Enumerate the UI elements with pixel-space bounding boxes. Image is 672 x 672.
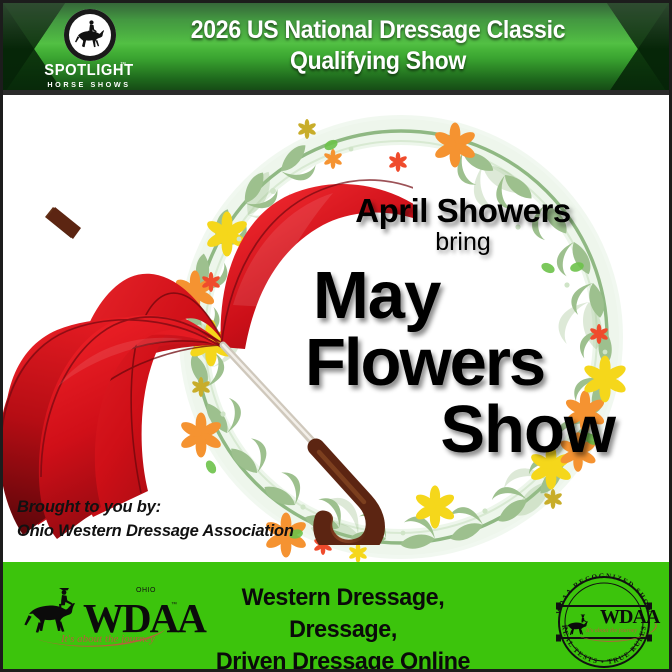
headline-line-show: Show	[303, 396, 615, 463]
headline-line-may: May	[313, 262, 623, 329]
headline-line-april-showers: April Showers	[303, 193, 623, 229]
spotlight-horse-shows-logo: SPOTLIGHT ™ HORSE SHOWS	[41, 9, 137, 93]
footer-title-line1: Western Dressage, Dressage,	[242, 584, 445, 643]
wdaa-badge-tagline: It's about the journey	[586, 628, 637, 634]
header-banner: SPOTLIGHT ™ HORSE SHOWS 2026 US National…	[3, 3, 669, 95]
headline-line-bring: bring	[303, 229, 623, 256]
logo-subtitle: HORSE SHOWS	[41, 80, 137, 89]
footer-title-line2: Driven Dressage Online Show	[186, 646, 500, 669]
logo-trademark: ™	[120, 62, 126, 68]
header-right-chevron	[607, 3, 669, 95]
footer-banner: OHIO WDAA ™ It's about the journey Weste…	[3, 562, 669, 669]
wdaa-tagline: It's about the journey	[61, 633, 155, 645]
credit-block: Brought to you by: Ohio Western Dressage…	[17, 495, 294, 543]
credit-line1: Brought to you by:	[17, 495, 294, 519]
wdaa-trademark: ™	[171, 602, 177, 608]
footer-title: Western Dressage, Dressage, Driven Dress…	[186, 582, 500, 669]
page-title: 2026 US National Dressage Classic Qualif…	[162, 15, 594, 77]
wdaa-badge-wordmark: WDAA	[600, 606, 659, 629]
artwork-canvas: April Showers bring May Flowers Show Bro…	[3, 95, 669, 562]
show-poster: SPOTLIGHT ™ HORSE SHOWS 2026 US National…	[0, 0, 672, 672]
wdaa-ohio-logo: OHIO WDAA ™ It's about the journey	[23, 574, 183, 658]
wdaa-region-label: OHIO	[136, 587, 156, 594]
wdaa-recognized-show-badge: WDAA RECOGNIZED SHOW REAL TESTS • TRUE R…	[548, 568, 660, 664]
page-title-line1: 2026 US National Dressage Classic	[191, 16, 565, 44]
headline-block: April Showers bring May Flowers Show	[303, 193, 623, 463]
dressage-horse-and-rider-icon	[64, 9, 116, 61]
credit-line2: Ohio Western Dressage Association	[17, 519, 294, 543]
page-title-line2: Qualifying Show	[162, 46, 594, 77]
headline-line-flowers: Flowers	[305, 329, 623, 396]
